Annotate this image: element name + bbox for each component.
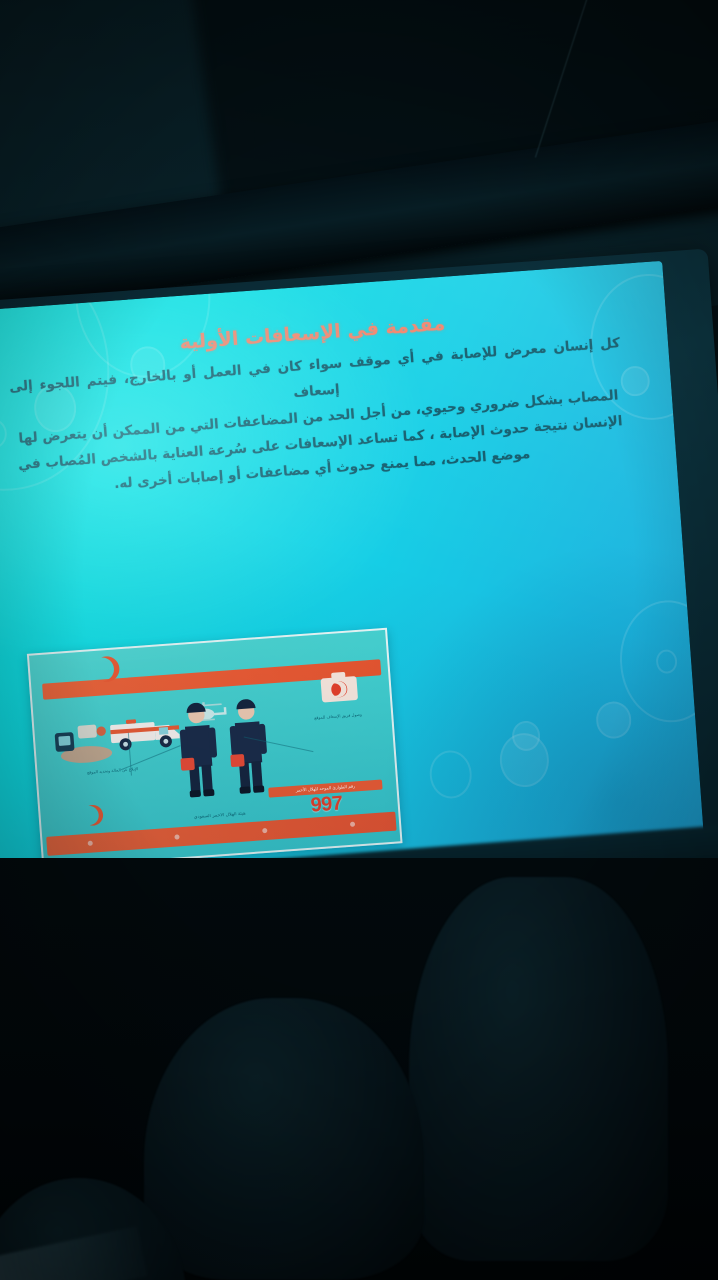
bar-dot-icon xyxy=(349,822,354,827)
bubble-decoration xyxy=(498,731,551,789)
chair-silhouette xyxy=(409,877,667,1261)
bar-dot-icon xyxy=(262,828,267,833)
chair-silhouette xyxy=(144,998,424,1280)
bar-dot-icon xyxy=(87,841,92,846)
red-crescent-icon xyxy=(72,800,120,831)
paramedic-figure-icon xyxy=(176,701,222,799)
photo-scene: مقدمة في الإسعافات الأولية كل إنسان معرض… xyxy=(0,0,718,1280)
bubble-decoration xyxy=(428,749,474,800)
infographic-caption-right: وصول فريق الإسعاف للموقع xyxy=(302,711,374,722)
paramedic-figure-icon xyxy=(226,698,272,796)
first-aid-infographic: الإبلاغ عن الحالة وتحديد الموقع وصول فري… xyxy=(27,627,403,869)
first-aid-kit-icon xyxy=(313,667,365,704)
board-surface: مقدمة في الإسعافات الأولية كل إنسان معرض… xyxy=(0,261,706,917)
bar-dot-icon xyxy=(175,834,180,839)
projected-slide: مقدمة في الإسعافات الأولية كل إنسان معرض… xyxy=(0,261,706,917)
red-crescent-icon xyxy=(79,649,142,687)
bubble-decoration xyxy=(595,701,633,740)
projection-board: مقدمة في الإسعافات الأولية كل إنسان معرض… xyxy=(0,249,718,929)
emergency-call-icon xyxy=(45,719,120,771)
